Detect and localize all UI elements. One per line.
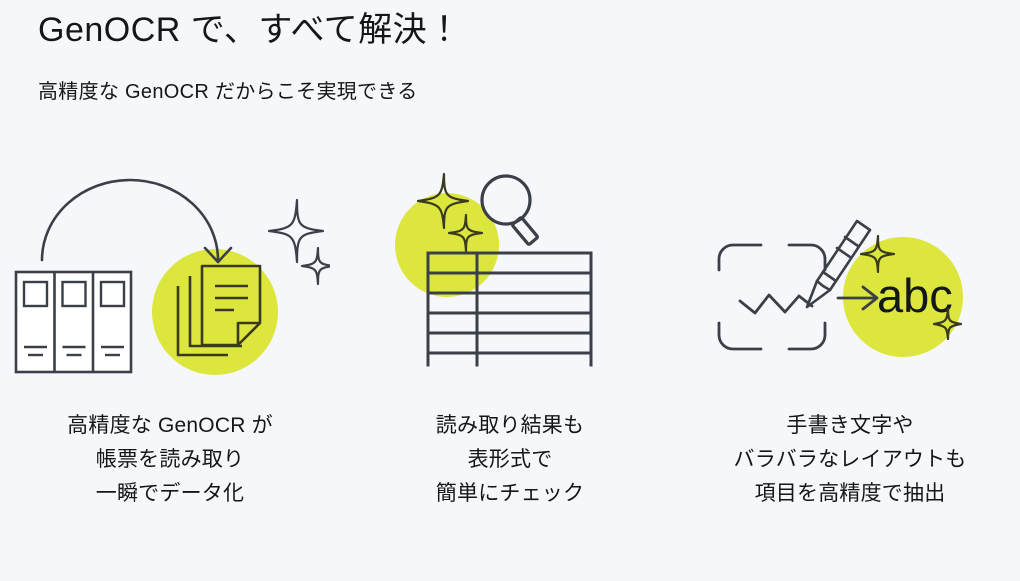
heading-block: GenOCR で、すべて解決！ 高精度な GenOCR だからこそ実現できる [38, 8, 938, 106]
caption-line: 一瞬でデータ化 [67, 477, 273, 511]
feature-item-1: 高精度な GenOCR が 帳票を読み取り 一瞬でデータ化 [0, 160, 340, 511]
table-with-magnifier-icon [395, 160, 625, 395]
page-title: GenOCR で、すべて解決！ [38, 8, 938, 52]
page-subtitle: 高精度な GenOCR だからこそ実現できる [38, 78, 938, 106]
sparkle-icon-large [269, 200, 323, 262]
caption-line: 帳票を読み取り [67, 443, 273, 477]
feature-illustration-1 [10, 160, 330, 395]
handwriting-stroke [740, 295, 812, 313]
caption-line: 読み取り結果も [436, 409, 584, 443]
handwriting-to-text-icon: abc [695, 160, 1005, 395]
feature-row: 高精度な GenOCR が 帳票を読み取り 一瞬でデータ化 [0, 160, 1020, 511]
sparkle-icon-small [302, 248, 330, 284]
caption-line: 高精度な GenOCR が [67, 409, 273, 443]
feature-illustration-2 [395, 160, 625, 395]
feature-item-3: abc 手書き文字や バラバラなレイアウトも 項目を高精度で抽出 [680, 160, 1020, 511]
feature-illustration-3: abc [695, 160, 1005, 395]
caption-line: 手書き文字や [734, 409, 967, 443]
feature-caption-3: 手書き文字や バラバラなレイアウトも 項目を高精度で抽出 [734, 409, 967, 511]
feature-caption-1: 高精度な GenOCR が 帳票を読み取り 一瞬でデータ化 [67, 409, 273, 511]
feature-item-2: 読み取り結果も 表形式で 簡単にチェック [340, 160, 680, 511]
caption-line: 項目を高精度で抽出 [734, 477, 967, 511]
caption-line: 簡単にチェック [436, 477, 584, 511]
feature-caption-2: 読み取り結果も 表形式で 簡単にチェック [436, 409, 584, 511]
caption-line: バラバラなレイアウトも [734, 443, 967, 477]
binders-icon [16, 272, 131, 372]
slide-canvas: GenOCR で、すべて解決！ 高精度な GenOCR だからこそ実現できる [0, 0, 1020, 581]
binders-to-digital-documents-icon [10, 160, 330, 395]
arc-arrow-path [42, 180, 218, 260]
caption-line: 表形式で [436, 443, 584, 477]
abc-text: abc [877, 269, 953, 322]
